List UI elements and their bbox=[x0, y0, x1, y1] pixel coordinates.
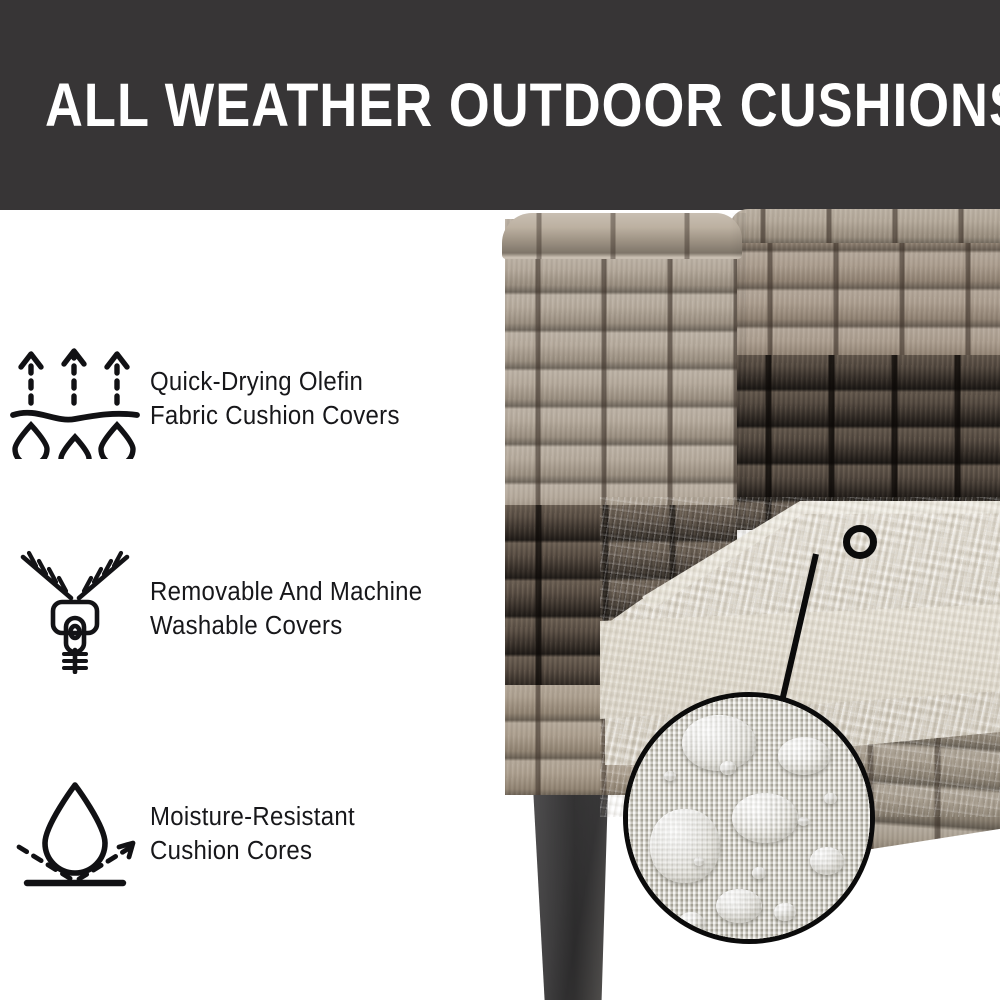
header-banner: ALL WEATHER OUTDOOR CUSHIONS bbox=[0, 0, 1000, 210]
feature-item-washable: Removable And Machine Washable Covers bbox=[0, 535, 500, 685]
water-droplet bbox=[650, 809, 720, 883]
water-droplet bbox=[752, 867, 766, 879]
feature-label-line1: Removable And Machine bbox=[150, 576, 422, 610]
water-evaporation-icon bbox=[0, 330, 150, 470]
feature-label-line1: Moisture-Resistant bbox=[150, 801, 355, 835]
page-title: ALL WEATHER OUTDOOR CUSHIONS bbox=[45, 0, 845, 210]
feature-label-moisture-resistant: Moisture-Resistant Cushion Cores bbox=[150, 801, 355, 869]
wicker-arm-cap-right bbox=[730, 209, 1000, 243]
infographic-canvas: ALL WEATHER OUTDOOR CUSHIONS bbox=[0, 0, 1000, 1000]
feature-label-line2: Washable Covers bbox=[150, 610, 422, 644]
wicker-arm-cap-front bbox=[502, 213, 742, 259]
water-droplet bbox=[694, 857, 704, 866]
product-photo bbox=[430, 205, 1000, 1000]
feature-item-quick-drying: Quick-Drying Olefin Fabric Cushion Cover… bbox=[0, 325, 500, 475]
feature-label-washable: Removable And Machine Washable Covers bbox=[150, 576, 422, 644]
wicker-panel-front-light bbox=[505, 219, 737, 519]
feature-item-moisture-resistant: Moisture-Resistant Cushion Cores bbox=[0, 760, 500, 910]
feature-label-line2: Fabric Cushion Covers bbox=[150, 400, 400, 434]
feature-list: Quick-Drying Olefin Fabric Cushion Cover… bbox=[0, 210, 500, 1000]
water-droplet bbox=[678, 912, 704, 934]
water-repellent-icon bbox=[0, 765, 150, 905]
zipper-icon bbox=[0, 540, 150, 680]
feature-label-line2: Cushion Cores bbox=[150, 835, 355, 869]
feature-label-line1: Quick-Drying Olefin bbox=[150, 366, 400, 400]
water-droplet bbox=[716, 889, 762, 923]
feature-label-quick-drying: Quick-Drying Olefin Fabric Cushion Cover… bbox=[150, 366, 400, 434]
water-droplet bbox=[774, 903, 796, 921]
